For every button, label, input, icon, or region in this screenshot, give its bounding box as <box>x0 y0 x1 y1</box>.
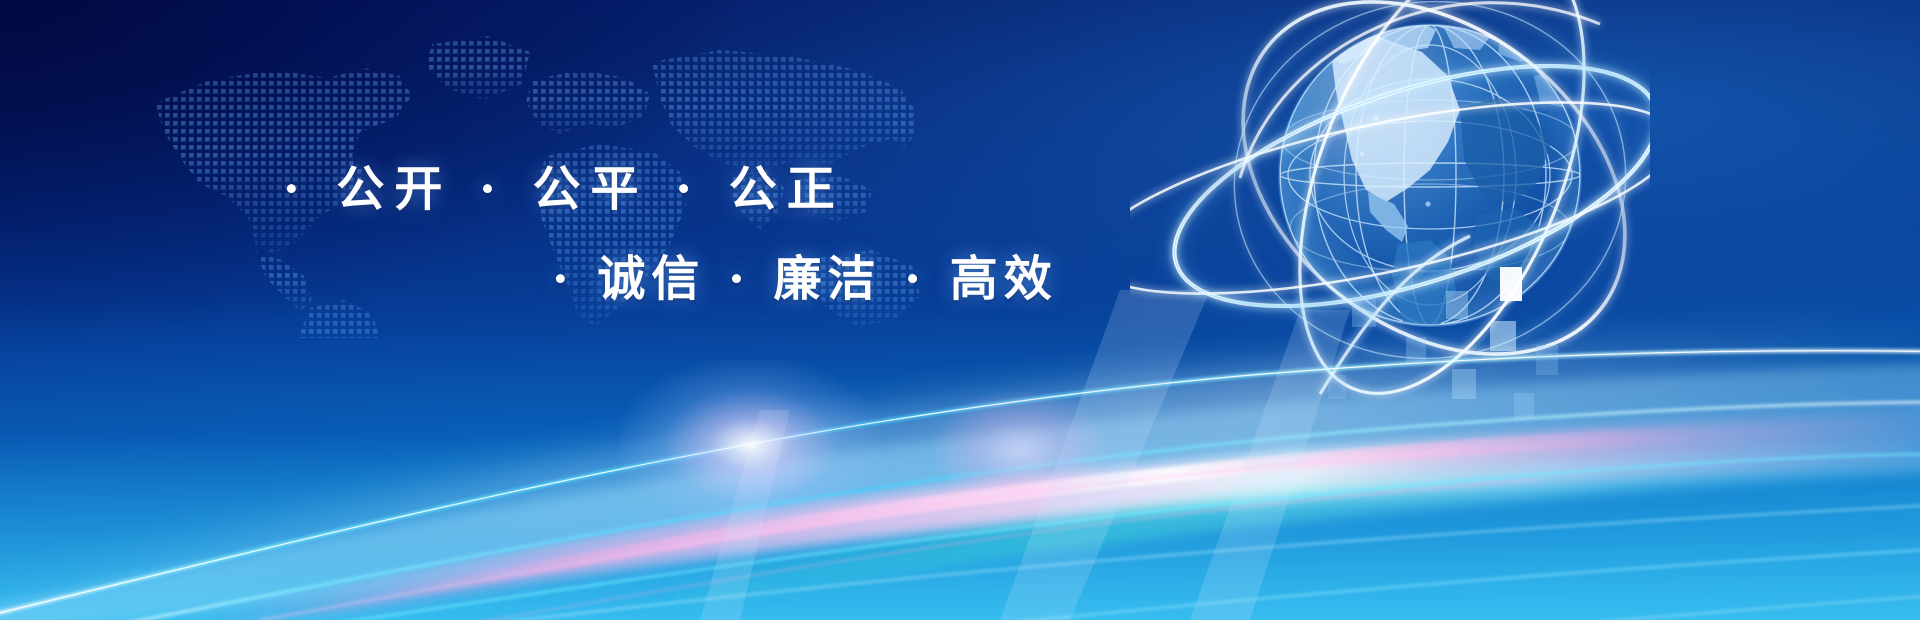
slogan-line-1: · 公开 · 公平 · 公正 <box>283 149 845 219</box>
decor-square <box>1500 267 1522 301</box>
decor-square <box>1352 297 1376 327</box>
light-wave-streaks <box>0 290 1920 620</box>
decor-square <box>1446 291 1468 319</box>
decor-square <box>1514 393 1534 419</box>
decor-square <box>1328 375 1346 399</box>
decorative-squares <box>1390 265 1590 415</box>
decor-square <box>1406 337 1426 363</box>
promo-banner: · 公开 · 公平 · 公正 · 诚信 · 廉洁 · 高效 <box>0 0 1920 620</box>
decor-square <box>1536 345 1558 375</box>
decor-square <box>1490 321 1516 351</box>
decor-square <box>1452 369 1476 399</box>
slogan-line-2: · 诚信 · 廉洁 · 高效 <box>552 239 1058 309</box>
